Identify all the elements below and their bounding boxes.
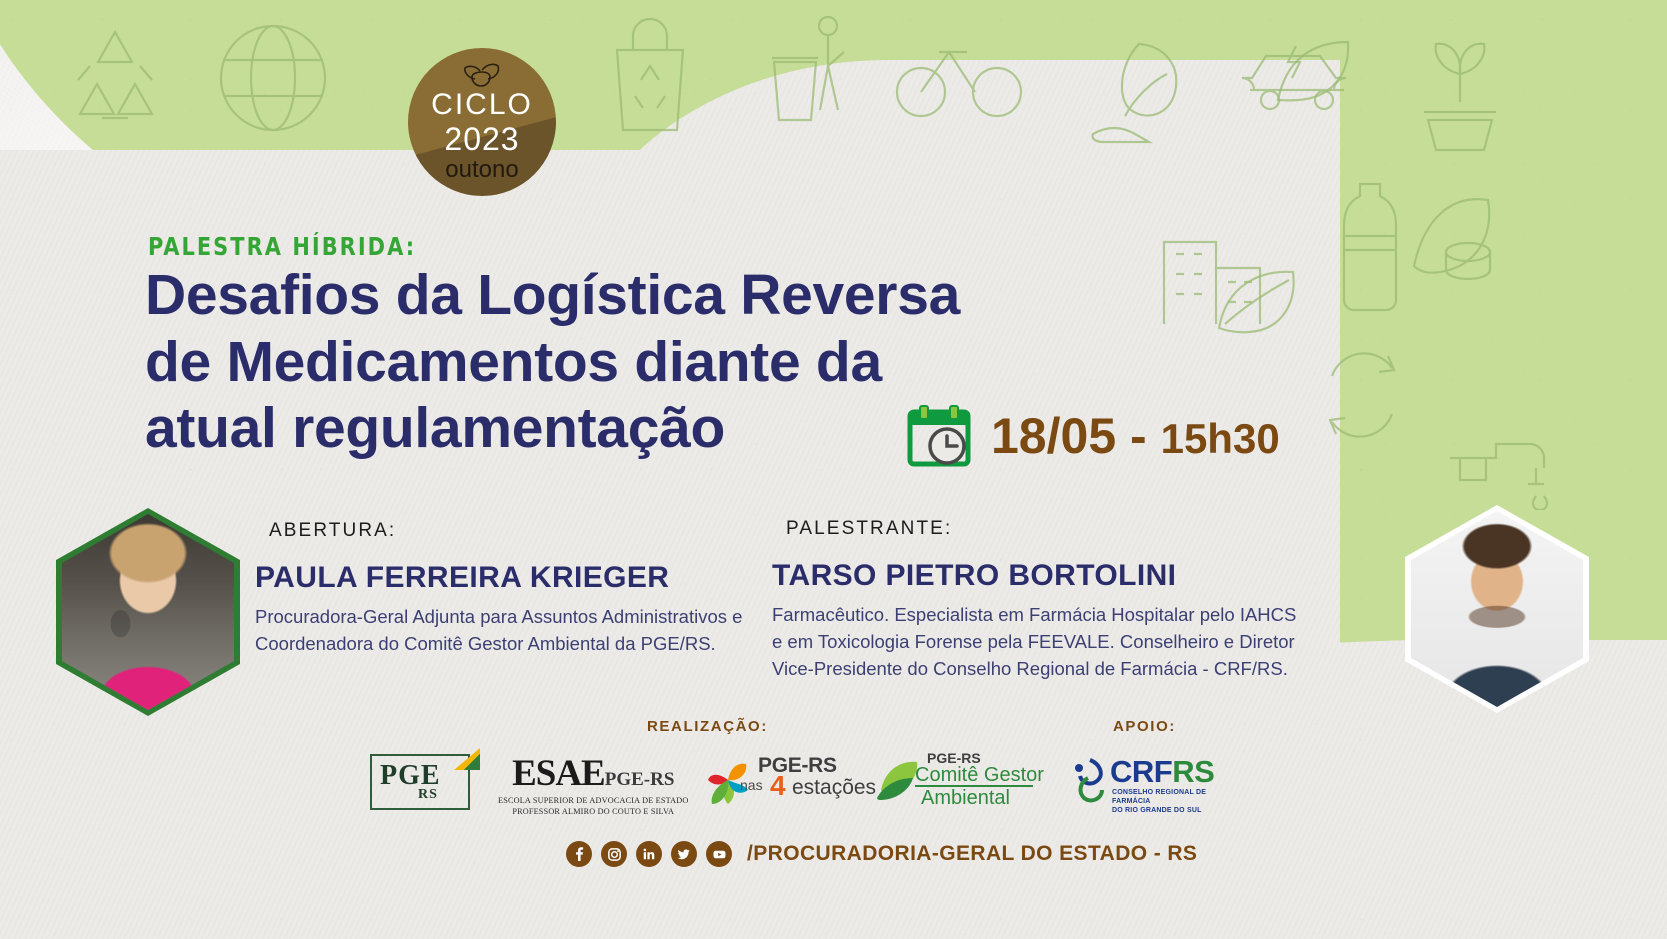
badge-title: CICLO: [431, 90, 533, 120]
calendar-clock-icon: [905, 403, 977, 469]
speaker-bio-palestrante: Farmacêutico. Especialista em Farmácia H…: [772, 601, 1302, 682]
linkedin-icon[interactable]: [636, 841, 662, 867]
speaker-bio-abertura: Procuradora-Geral Adjunta para Assuntos …: [255, 603, 775, 657]
logo-crf-sub: CONSELHO REGIONAL DE FARMÁCIA DO RIO GRA…: [1112, 788, 1240, 815]
logo-pge-sub: RS: [418, 787, 438, 803]
bio-line-2: Coordenadora do Comitê Gestor Ambiental …: [255, 630, 775, 657]
speaker-name-palestrante: TARSO PIETRO BORTOLINI: [772, 559, 1302, 593]
logo-esae-sub-2: PROFESSOR ALMIRO DO COUTO E SILVA: [498, 807, 689, 817]
event-datetime: 18/05 - 15h30: [905, 403, 1280, 469]
event-time: 15h30: [1161, 415, 1280, 462]
crf-emblem-icon: [1070, 756, 1108, 804]
speaker-block-abertura: ABERTURA: PAULA FERREIRA KRIEGER Procura…: [255, 515, 775, 657]
bio-line-2: e em Toxicologia Forense pela FEEVALE. C…: [772, 628, 1302, 655]
logo-esae-main: ESAEPGE-RS: [498, 752, 689, 795]
acorn-leaf-icon: [462, 62, 502, 88]
page-title: Desafios da Logística Reversa de Medicam…: [145, 262, 1015, 462]
title-line-2: de Medicamentos diante da: [145, 329, 1015, 396]
logo-est-word: estações: [792, 776, 876, 800]
facebook-icon[interactable]: [566, 841, 592, 867]
logo-esae: ESAEPGE-RS ESCOLA SUPERIOR DE ADVOCACIA …: [498, 752, 689, 818]
logo-est-nas: nas: [740, 777, 763, 793]
rs-flag-icon: [454, 748, 480, 770]
social-handle: /PROCURADORIA-GERAL DO ESTADO - RS: [747, 842, 1197, 866]
role-label-abertura: ABERTURA:: [255, 515, 422, 548]
twitter-icon[interactable]: [671, 841, 697, 867]
logo-cga-line2: Ambiental: [921, 787, 1010, 810]
apoio-label: APOIO:: [1113, 718, 1176, 735]
date-separator: -: [1130, 408, 1147, 464]
badge-season: outono: [445, 158, 518, 182]
social-bar: /PROCURADORIA-GERAL DO ESTADO - RS: [566, 841, 1197, 867]
logo-esae-sub-1: ESCOLA SUPERIOR DE ADVOCACIA DE ESTADO: [498, 796, 689, 806]
title-line-3: atual regulamentação: [145, 395, 1015, 462]
logo-est-four: 4: [770, 770, 786, 802]
ciclo-badge: CICLO 2023 outono: [408, 48, 556, 196]
bio-line-3: Vice-Presidente do Conselho Regional de …: [772, 655, 1302, 682]
logo-cga-line1: Comitê Gestor: [915, 764, 1044, 787]
youtube-icon[interactable]: [706, 841, 732, 867]
event-date: 18/05: [991, 408, 1116, 464]
speaker-name-abertura: PAULA FERREIRA KRIEGER: [255, 561, 775, 595]
date-time-text: 18/05 - 15h30: [991, 407, 1280, 465]
bio-line-1: Procuradora-Geral Adjunta para Assuntos …: [255, 603, 775, 630]
badge-year: 2023: [444, 123, 519, 155]
logo-crf-rs: CRFRS CONSELHO REGIONAL DE FARMÁCIA DO R…: [1070, 754, 1240, 810]
leaf-duo-icon: [875, 756, 919, 804]
event-poster: CICLO 2023 outono PALESTRA HÍBRIDA: Desa…: [0, 0, 1667, 939]
logo-pge-rs: PGE RS: [370, 754, 470, 810]
role-label-palestrante: PALESTRANTE:: [772, 513, 978, 546]
title-line-1: Desafios da Logística Reversa: [145, 262, 1015, 329]
logo-crf-text: CRFRS: [1110, 754, 1214, 790]
speaker-block-palestrante: PALESTRANTE: TARSO PIETRO BORTOLINI Farm…: [772, 513, 1302, 682]
instagram-icon[interactable]: [601, 841, 627, 867]
logo-row: PGE RS ESAEPGE-RS ESCOLA SUPERIOR DE ADV…: [360, 748, 1260, 810]
kicker-label: PALESTRA HÍBRIDA:: [148, 232, 416, 261]
bio-line-1: Farmacêutico. Especialista em Farmácia H…: [772, 601, 1302, 628]
logo-comite-gestor-ambiental: PGE-RS Comitê Gestor Ambiental: [875, 750, 1045, 806]
realizacao-label: REALIZAÇÃO:: [647, 718, 768, 735]
